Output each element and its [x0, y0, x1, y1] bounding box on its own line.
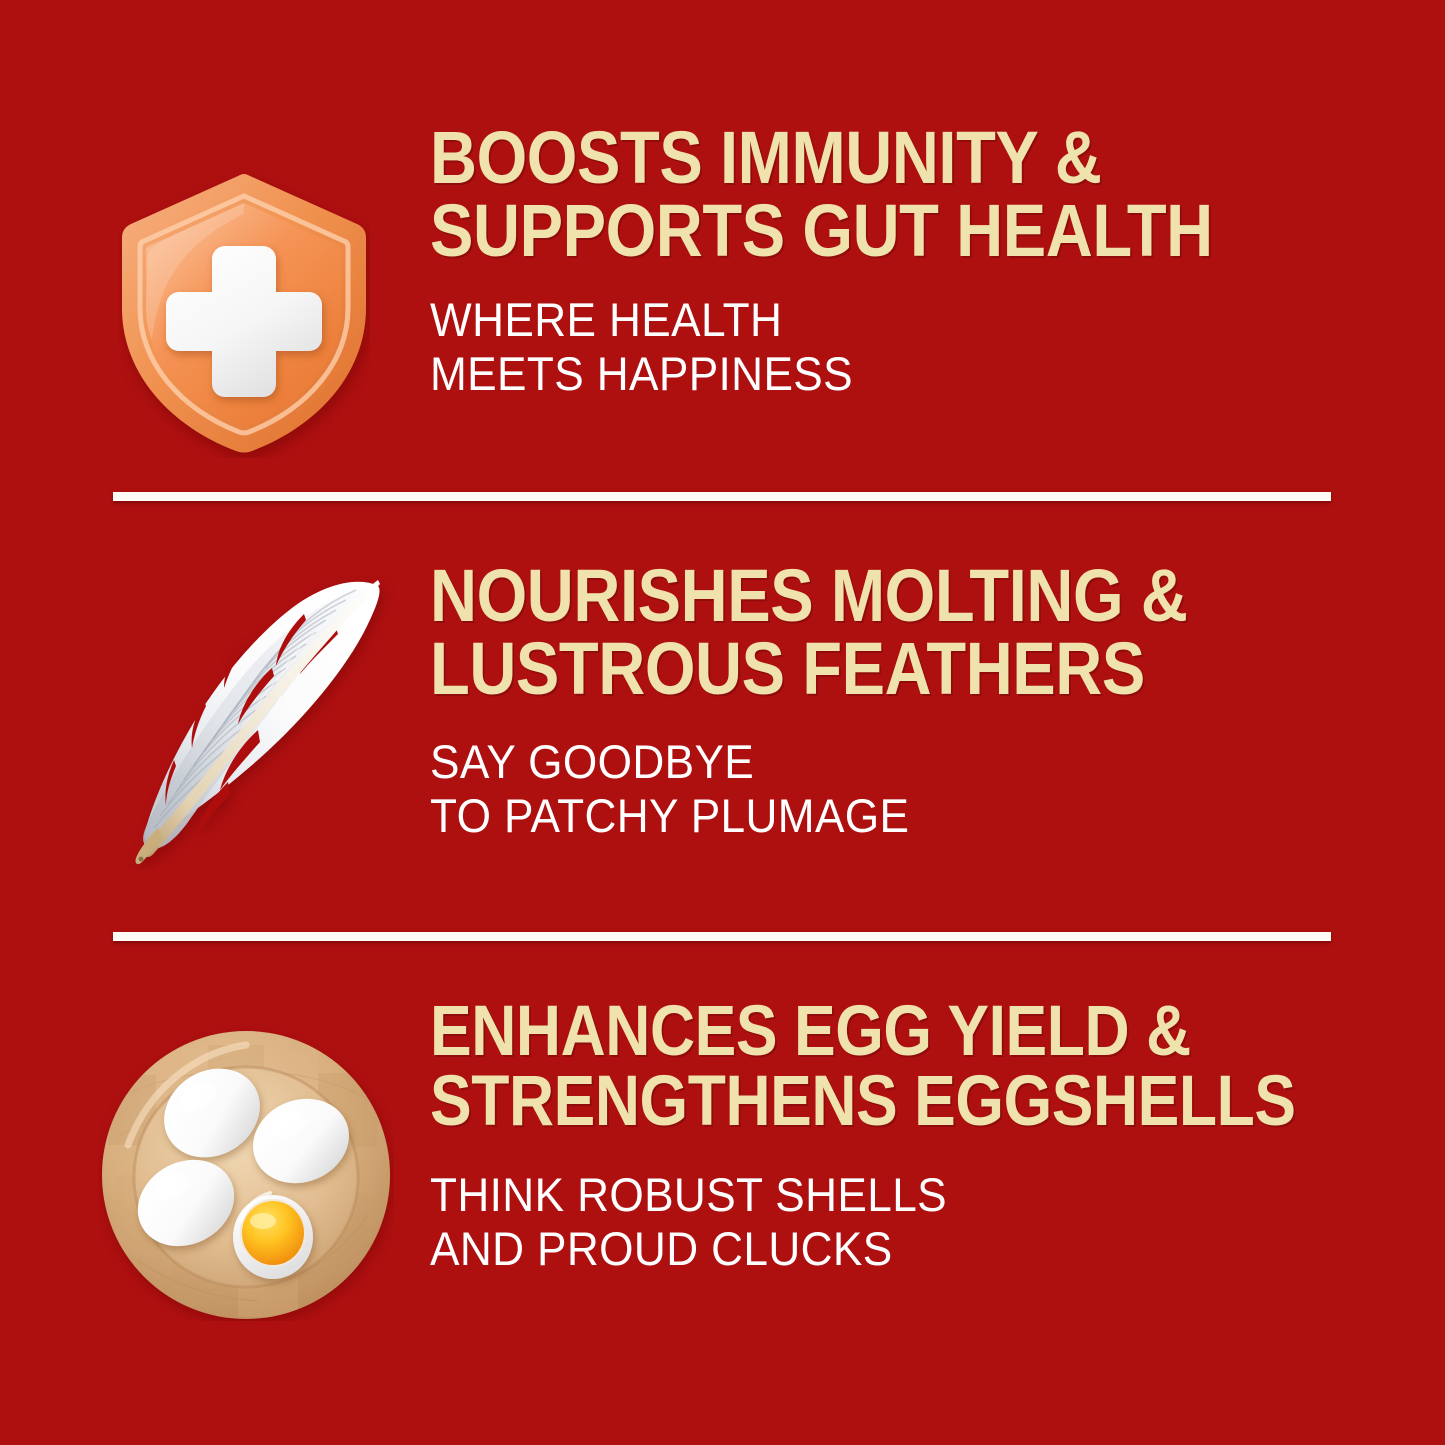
benefit-subline: SAY GOODBYE TO PATCHY PLUMAGE: [430, 735, 1384, 842]
benefit-icon-cell: [0, 110, 430, 470]
section-divider: [113, 492, 1331, 501]
benefit-headline: NOURISHES MOLTING & LUSTROUS FEATHERS: [430, 560, 1323, 705]
benefit-subline: THINK ROBUST SHELLS AND PROUD CLUCKS: [430, 1168, 1384, 1275]
benefit-row-immunity: BOOSTS IMMUNITY & SUPPORTS GUT HEALTH WH…: [0, 110, 1445, 470]
benefit-row-feathers: NOURISHES MOLTING & LUSTROUS FEATHERS SA…: [0, 548, 1445, 908]
benefit-headline: ENHANCES EGG YIELD & STRENGTHENS EGGSHEL…: [430, 997, 1323, 1136]
benefit-icon-cell: [0, 548, 430, 908]
benefit-icon-cell: [0, 985, 430, 1355]
benefit-text-cell: BOOSTS IMMUNITY & SUPPORTS GUT HEALTH WH…: [430, 110, 1445, 400]
shield-plus-icon: [118, 168, 370, 458]
benefit-row-eggs: ENHANCES EGG YIELD & STRENGTHENS EGGSHEL…: [0, 985, 1445, 1355]
egg-bowl-icon: [98, 1025, 394, 1321]
feather-icon: [110, 570, 400, 870]
benefit-text-cell: ENHANCES EGG YIELD & STRENGTHENS EGGSHEL…: [430, 985, 1445, 1275]
benefit-text-cell: NOURISHES MOLTING & LUSTROUS FEATHERS SA…: [430, 548, 1445, 842]
benefit-subline: WHERE HEALTH MEETS HAPPINESS: [430, 293, 1384, 400]
benefits-infographic: BOOSTS IMMUNITY & SUPPORTS GUT HEALTH WH…: [0, 0, 1445, 1445]
benefit-headline: BOOSTS IMMUNITY & SUPPORTS GUT HEALTH: [430, 122, 1323, 267]
section-divider: [113, 932, 1331, 941]
